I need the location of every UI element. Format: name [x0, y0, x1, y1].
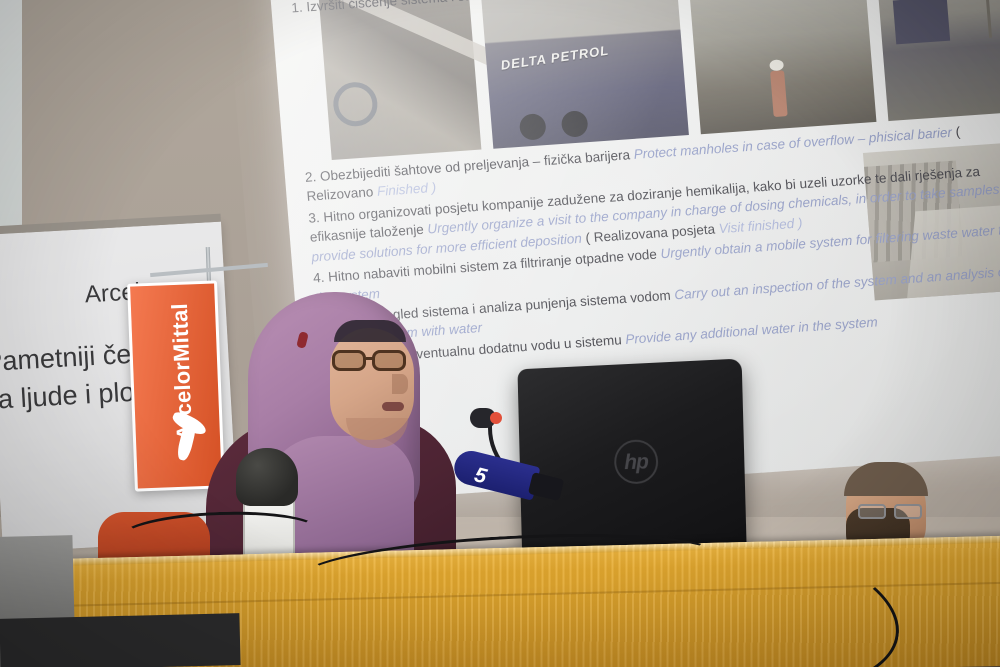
presenter-nose	[392, 374, 408, 394]
tv-channel-logo: 5	[472, 464, 488, 487]
desk-shadow-gap	[0, 613, 241, 667]
bullet-status-english: Finished )	[376, 180, 436, 199]
glasses-lens-right	[372, 350, 406, 371]
slide-bullet: 1. Izvršiti čišćenje sistema i šahtova P…	[291, 0, 1000, 18]
bullet-status-english: Visit finished )	[718, 215, 803, 236]
gooseneck-indicator-light	[490, 412, 502, 424]
bullet-english: Protect manholes in case of overflow – p…	[633, 124, 952, 161]
bullet-local: Izvršiti čišćenje sistema i šahtova	[306, 0, 506, 14]
bullet-number: 4.	[313, 270, 325, 286]
presenter-under-cap	[334, 320, 406, 342]
hp-logo-icon: hp	[614, 439, 659, 484]
banner-line-1: Pametniji če	[0, 339, 132, 378]
glasses-lens-left	[332, 350, 366, 371]
mic-handle	[528, 472, 564, 501]
microphone-windscreen	[236, 448, 298, 506]
conference-photo-scene: measures DELTA PETROL 1. Izvršiti čišćen…	[0, 0, 1000, 667]
man-hair	[844, 462, 928, 496]
man-glasses-icon	[858, 504, 926, 520]
presenter-mouth	[382, 402, 404, 411]
bullet-number: 1.	[291, 0, 303, 15]
bullet-number: 3.	[308, 210, 320, 226]
bullet-number: 2.	[304, 169, 316, 185]
glasses-lens-right	[894, 504, 922, 519]
presenter-glasses-icon	[332, 350, 416, 372]
banner-line-2: za ljude i plo	[0, 377, 135, 416]
bullet-local: Obezbijediti šahtove od preljevanja – fi…	[319, 147, 630, 184]
glasses-lens-left	[858, 504, 886, 519]
mic-flag-box: 5	[451, 447, 541, 500]
